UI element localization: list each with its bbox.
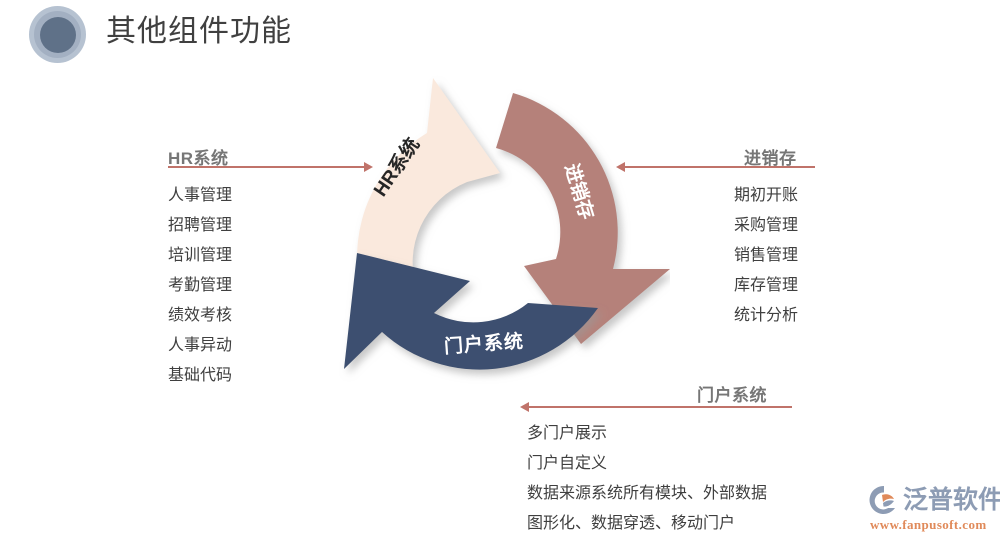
- brand-name: 泛普软件: [903, 484, 1000, 516]
- list-item: 基础代码: [168, 361, 368, 391]
- slide-canvas: 其他组件功能 HR系统 进销存 门户系统 H: [0, 0, 1000, 542]
- circle-badge-ring-inner: [40, 17, 76, 53]
- circle-badge-icon: [29, 6, 86, 63]
- page-title: 其他组件功能: [106, 8, 292, 56]
- circle-badge-ring-middle: [34, 11, 81, 58]
- cycle-diagram: HR系统 进销存 门户系统: [330, 68, 670, 410]
- fanpu-mark-icon: [868, 484, 900, 516]
- section-arrowhead-inventory-icon: [616, 162, 625, 172]
- list-item: 多门户展示: [527, 419, 857, 449]
- brand-logo: 泛普软件 www.fanpusoft.com: [868, 484, 992, 536]
- section-rule-portal: [529, 406, 792, 408]
- section-title-portal: 门户系统: [697, 381, 767, 406]
- list-item: 图形化、数据穿透、移动门户: [527, 509, 857, 539]
- list-item: 期初开账: [734, 181, 934, 211]
- list-item: 人事异动: [168, 331, 368, 361]
- cycle-segment-inventory: [496, 93, 670, 344]
- list-item: 数据来源系统所有模块、外部数据: [527, 479, 857, 509]
- list-item: 统计分析: [734, 301, 934, 331]
- list-item: 采购管理: [734, 211, 934, 241]
- cycle-segment-hr: [357, 78, 500, 290]
- item-list-hr: 人事管理 招聘管理 培训管理 考勤管理 绩效考核 人事异动 基础代码: [168, 181, 368, 391]
- section-rule-inventory: [625, 166, 815, 168]
- brand-url: www.fanpusoft.com: [870, 517, 987, 533]
- slide-header: 其他组件功能: [0, 0, 1000, 70]
- item-list-portal: 多门户展示 门户自定义 数据来源系统所有模块、外部数据 图形化、数据穿透、移动门…: [527, 419, 857, 539]
- cycle-diagram-svg: [330, 68, 670, 410]
- list-item: 培训管理: [168, 241, 368, 271]
- list-item: 门户自定义: [527, 449, 857, 479]
- section-arrowhead-portal-icon: [520, 402, 529, 412]
- list-item: 招聘管理: [168, 211, 368, 241]
- section-arrowhead-hr-icon: [364, 162, 373, 172]
- brand-logo-row: 泛普软件: [868, 484, 1000, 516]
- list-item: 人事管理: [168, 181, 368, 211]
- list-item: 考勤管理: [168, 271, 368, 301]
- item-list-inventory: 期初开账 采购管理 销售管理 库存管理 统计分析: [734, 181, 934, 331]
- list-item: 绩效考核: [168, 301, 368, 331]
- list-item: 销售管理: [734, 241, 934, 271]
- section-rule-hr: [168, 166, 366, 168]
- list-item: 库存管理: [734, 271, 934, 301]
